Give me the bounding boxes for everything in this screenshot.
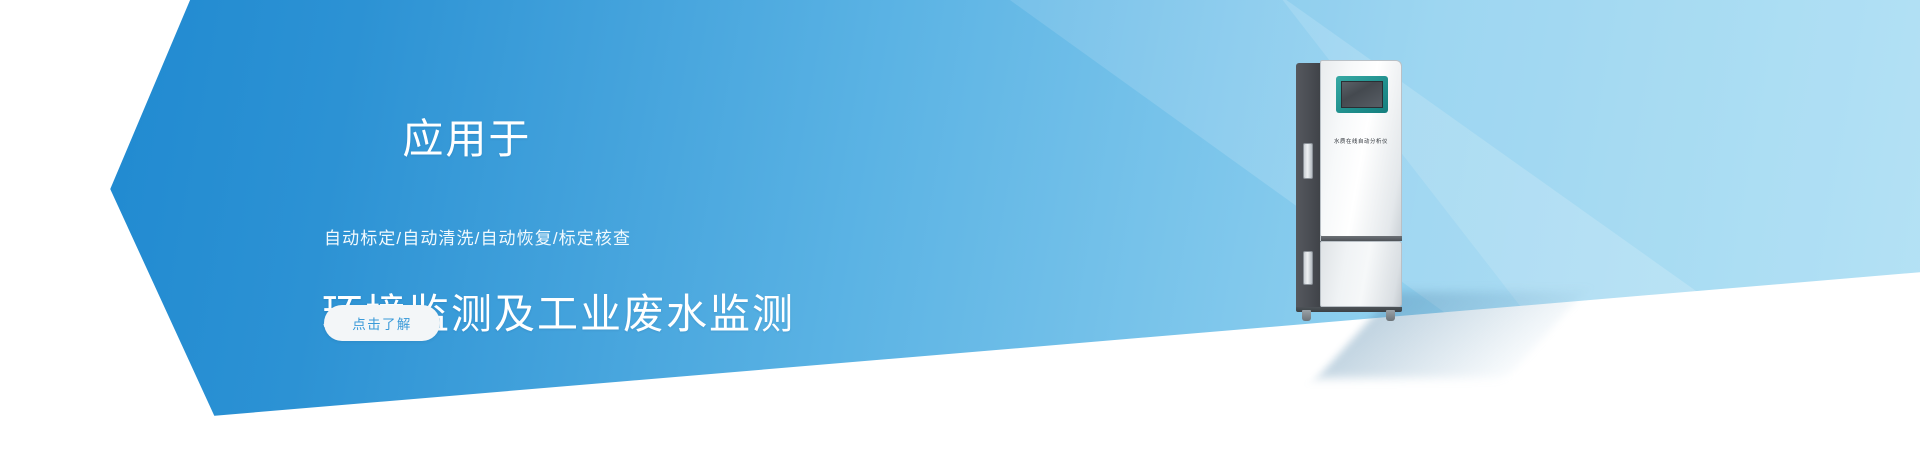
cabinet-lower-door bbox=[1320, 241, 1402, 307]
cabinet-upper-door: 水质在线自动分析仪 bbox=[1320, 60, 1402, 237]
cabinet-side-panel bbox=[1296, 63, 1321, 310]
product-label: 水质在线自动分析仪 bbox=[1321, 137, 1401, 145]
learn-more-button[interactable]: 点击了解 bbox=[324, 305, 440, 341]
hero-banner: 应用于 环境监测及工业废水监测 自动标定/自动清洗/自动恢复/标定核查 点击了解… bbox=[0, 0, 1920, 450]
banner-subtitle: 自动标定/自动清洗/自动恢复/标定核查 bbox=[324, 224, 631, 249]
analyzer-display-bezel bbox=[1336, 76, 1388, 113]
banner-content: 应用于 环境监测及工业废水监测 自动标定/自动清洗/自动恢复/标定核查 点击了解 bbox=[322, 0, 1082, 450]
headline-line-1: 应用于 bbox=[402, 116, 531, 162]
cabinet-caster-right-icon bbox=[1386, 310, 1395, 321]
analyzer-display-screen bbox=[1341, 81, 1383, 108]
cabinet-upper-handle-icon bbox=[1303, 143, 1313, 179]
banner-headline: 应用于 环境监测及工业废水监测 bbox=[322, 52, 795, 450]
cabinet-caster-left-icon bbox=[1302, 310, 1311, 321]
analyzer-cabinet: 水质在线自动分析仪 bbox=[1296, 60, 1402, 312]
cabinet-lower-handle-icon bbox=[1303, 251, 1313, 285]
product-illustration: 水质在线自动分析仪 bbox=[1296, 60, 1496, 380]
